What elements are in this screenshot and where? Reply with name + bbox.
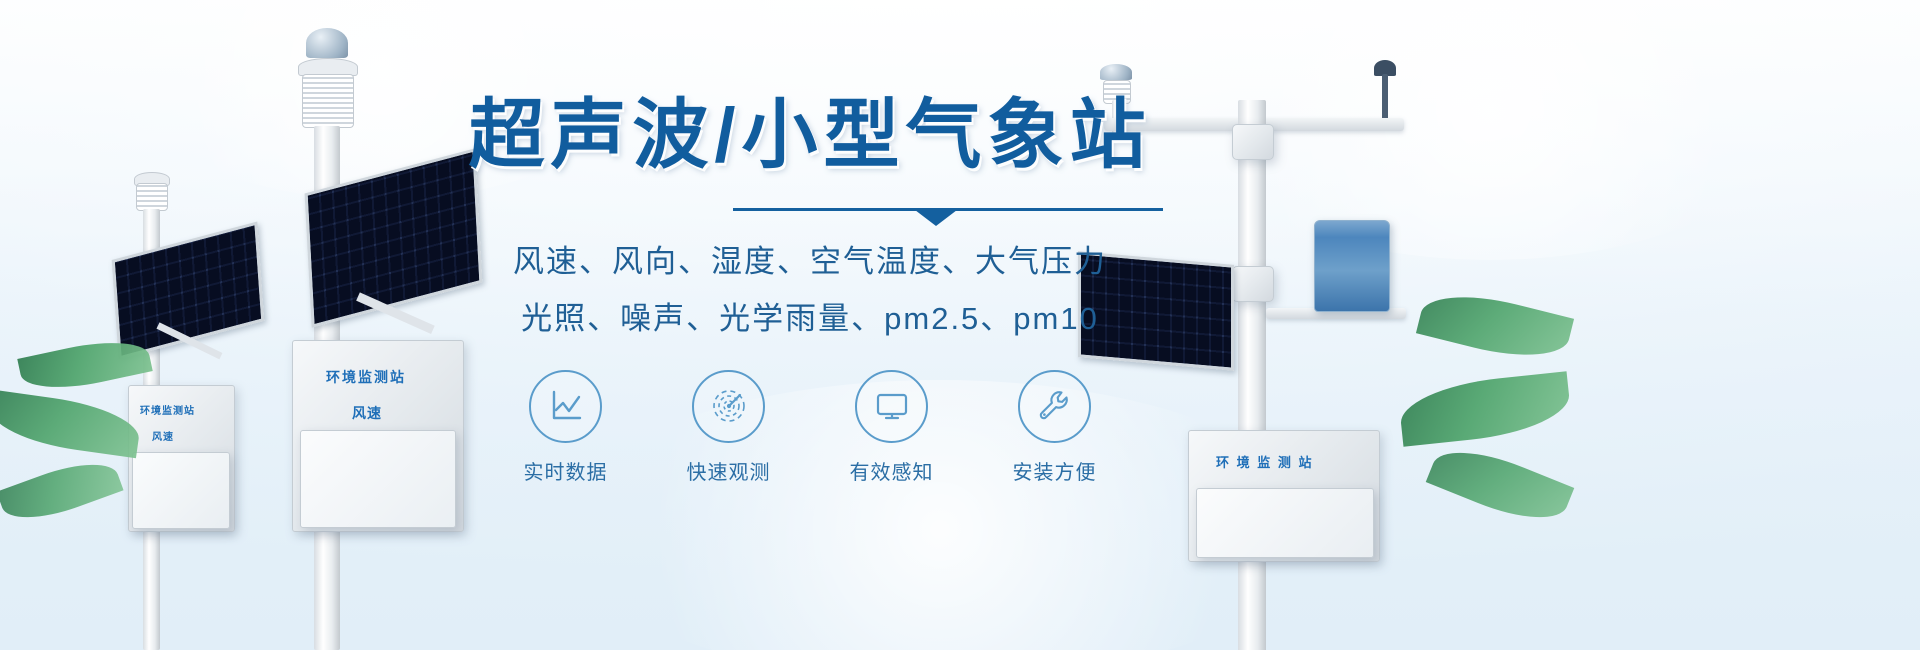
cabinet-label: 环 境 监 测 站 [1216,452,1313,471]
cabinet-label: 环境监测站 [140,402,195,417]
feature-label: 有效感知 [834,456,949,485]
feature-item-easy-install[interactable]: 安装方便 [997,370,1112,485]
banner-subtitle-1: 风速、风向、湿度、空气温度、大气压力 [440,236,1180,281]
optical-rain-gauge [1314,220,1390,312]
feature-list: 实时数据 快速观测 [440,370,1180,485]
cabinet-brand: 风速 [152,428,174,443]
feature-label: 实时数据 [508,456,623,485]
ultrasonic-sensor-body [136,183,168,211]
radar-gauge-icon [710,387,748,425]
monitor-screen-icon [873,387,911,425]
cabinet-brand: 风速 [352,403,382,423]
feature-item-realtime-data[interactable]: 实时数据 [508,370,623,485]
banner-text-block: 超声波/小型气象站 风速、风向、湿度、空气温度、大气压力 光照、噪声、光学雨量、… [440,96,1180,485]
cabinet-label: 环境监测站 [326,367,406,387]
banner-headline: 超声波/小型气象站 [440,96,1180,176]
feature-item-effective-sensing[interactable]: 有效感知 [834,370,949,485]
mast-joint-collar-lower [1232,266,1274,302]
banner-subtitle-2: 光照、噪声、光学雨量、pm2.5、pm10 [440,293,1180,338]
feature-circle [855,370,928,443]
feature-circle [1018,370,1091,443]
equipment-cabinet-base [1196,488,1374,558]
feature-label: 安装方便 [997,456,1112,485]
line-chart-icon [547,387,585,425]
equipment-cabinet-lower [132,452,230,529]
mast-joint-collar [1232,124,1274,160]
feature-item-fast-observation[interactable]: 快速观测 [671,370,786,485]
sensor-dome-icon [306,28,348,58]
feature-circle [692,370,765,443]
feature-circle [529,370,602,443]
equipment-cabinet-door [300,430,456,528]
wind-vane-icon [1368,60,1402,120]
feature-label: 快速观测 [671,456,786,485]
radiation-shield-body [302,74,354,128]
wrench-icon [1036,387,1074,425]
divider-arrow-icon [915,210,957,226]
mast-pole [1238,100,1266,650]
product-banner: 环境监测站 风速 环境监测站 风速 [0,0,1920,650]
headline-divider [733,202,1163,218]
